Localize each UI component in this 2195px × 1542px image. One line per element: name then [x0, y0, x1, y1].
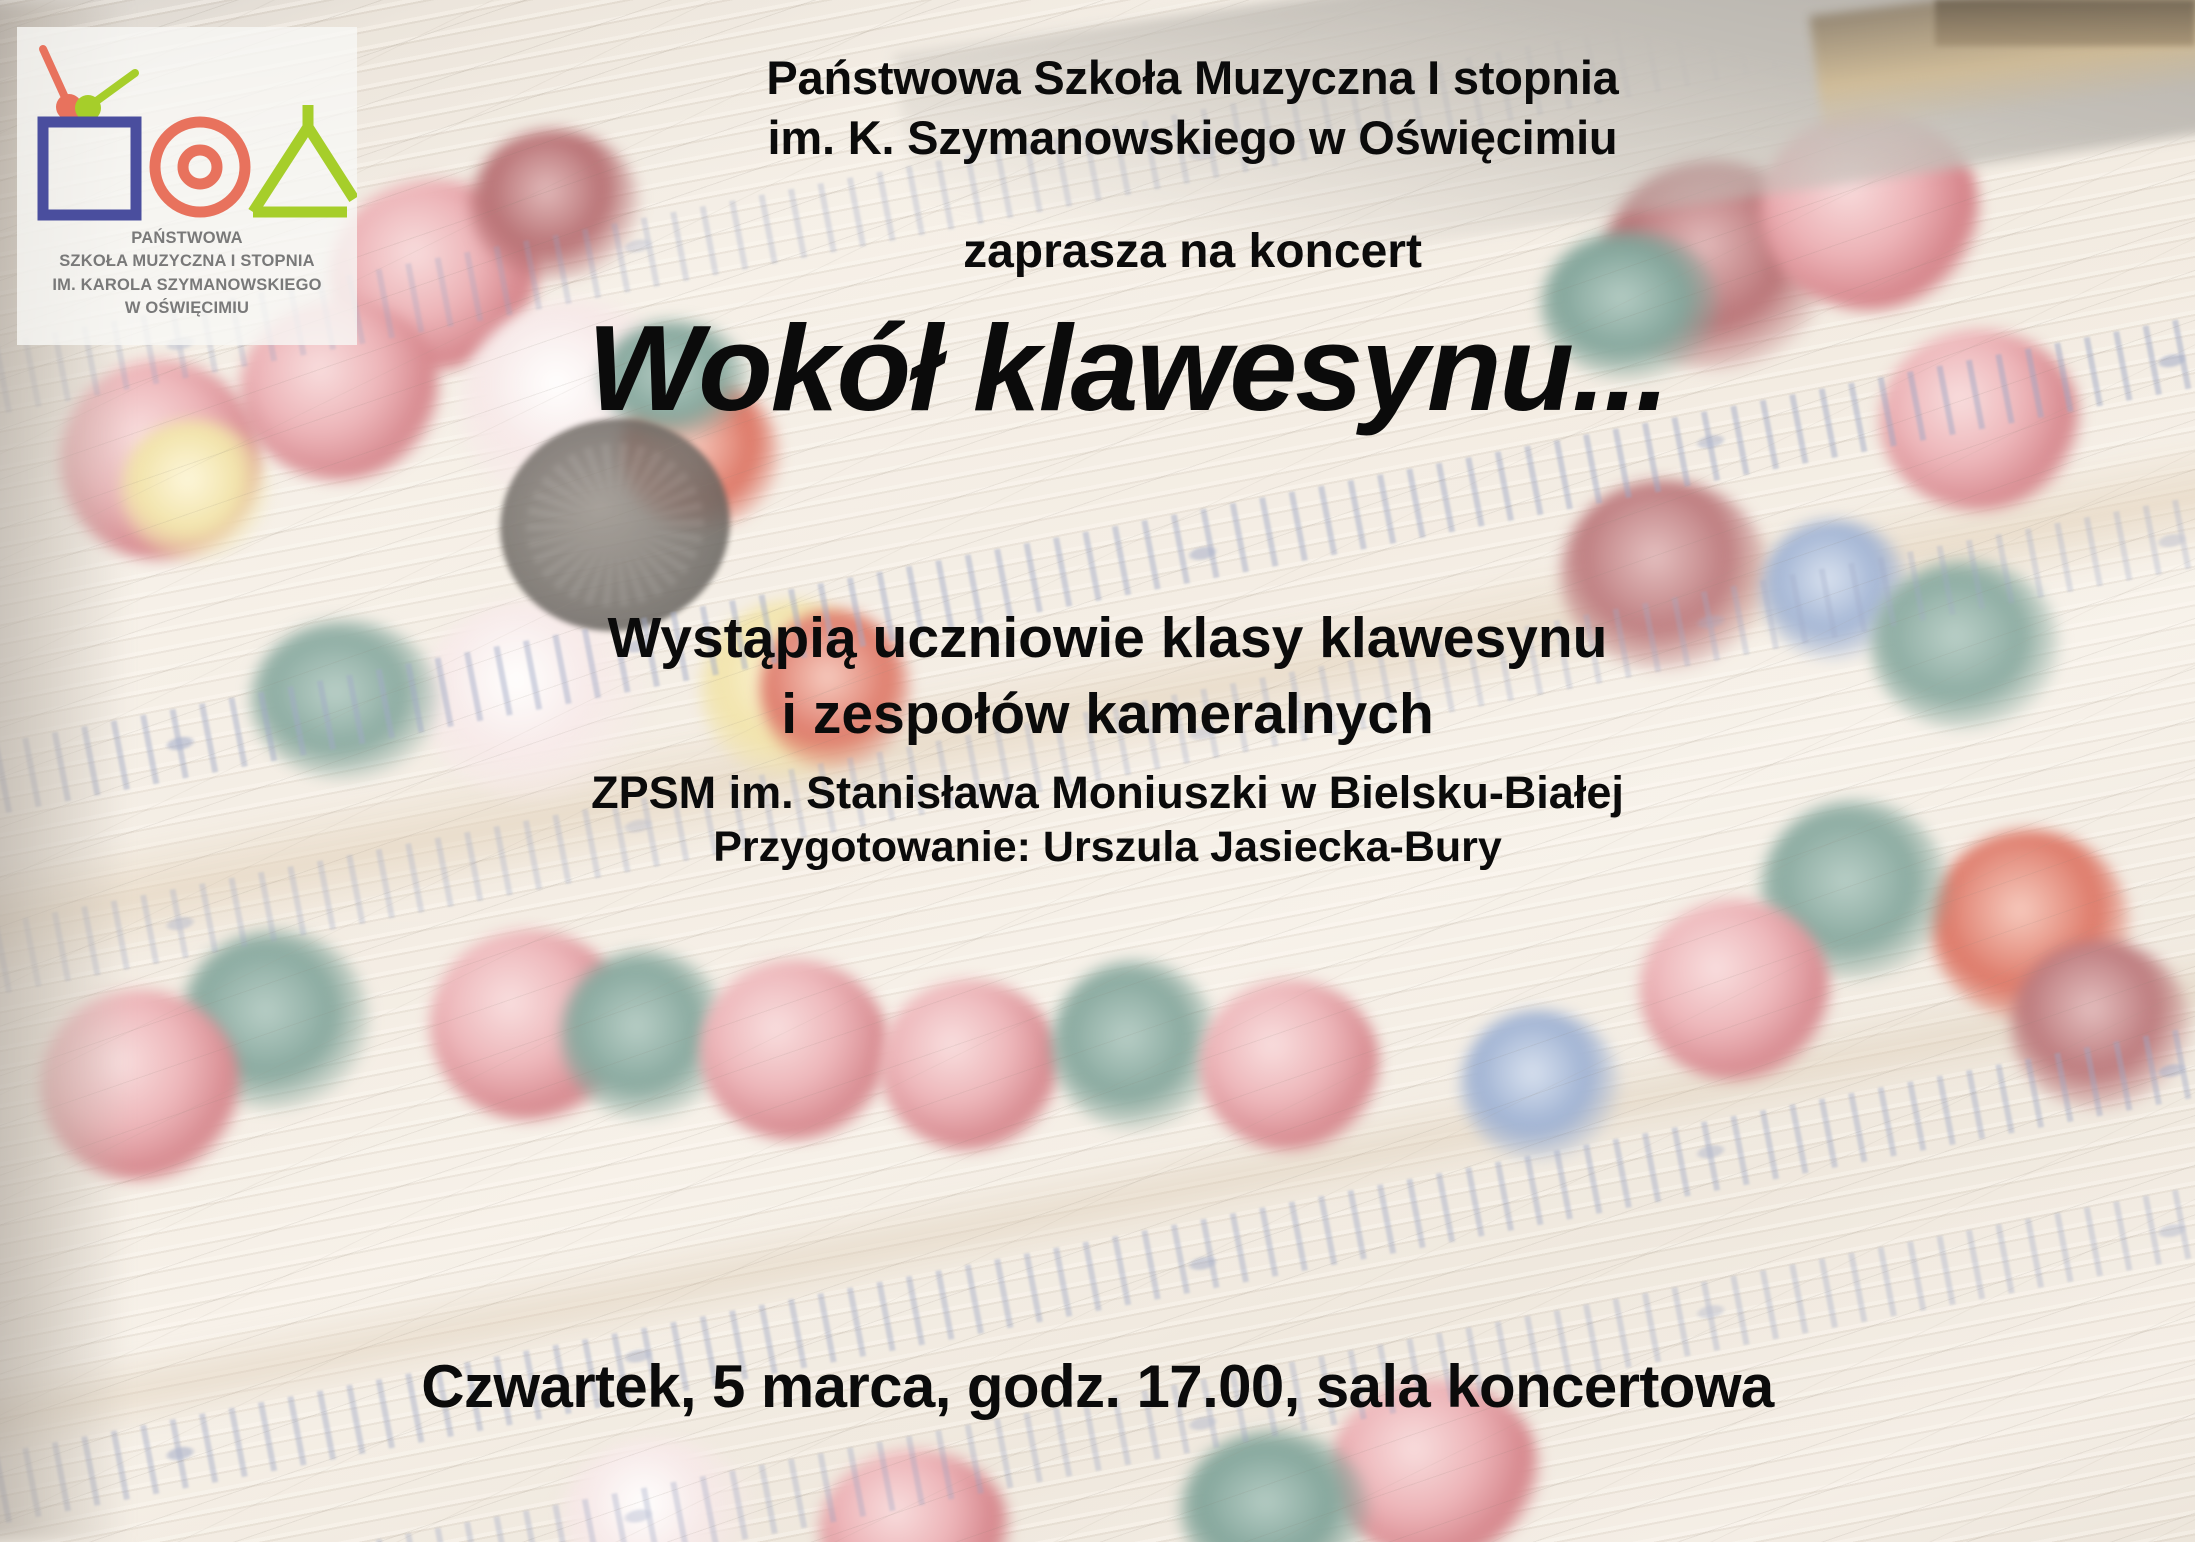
school-heading-line-2: im. K. Szymanowskiego w Oświęcimiu: [270, 108, 2115, 168]
partner-school: ZPSM im. Stanisława Moniuszki w Bielsku-…: [100, 764, 2115, 823]
performers-text: Wystąpią uczniowie klasy klawesynu i zes…: [100, 600, 2115, 753]
preparation-credit: Przygotowanie: Urszula Jasiecka-Bury: [100, 820, 2115, 876]
concentric-circle-icon: [155, 122, 245, 212]
mallet-green-icon: [75, 73, 135, 121]
concert-title: Wokół klawesynu...: [120, 300, 2135, 437]
performers-line-2: i zespołów kameralnych: [100, 676, 2115, 752]
school-heading-line-1: Państwowa Szkoła Muzyczna I stopnia: [270, 48, 2115, 108]
event-datetime: Czwartek, 5 marca, godz. 17.00, sala kon…: [20, 1352, 2175, 1421]
concert-poster: PAŃSTWOWA SZKOŁA MUZYCZNA I STOPNIA IM. …: [0, 0, 2195, 1542]
square-icon: [43, 122, 136, 215]
school-heading: Państwowa Szkoła Muzyczna I stopnia im. …: [270, 48, 2115, 168]
invitation-text: zaprasza na koncert: [270, 224, 2115, 279]
performers-line-1: Wystąpią uczniowie klasy klawesynu: [100, 600, 2115, 676]
